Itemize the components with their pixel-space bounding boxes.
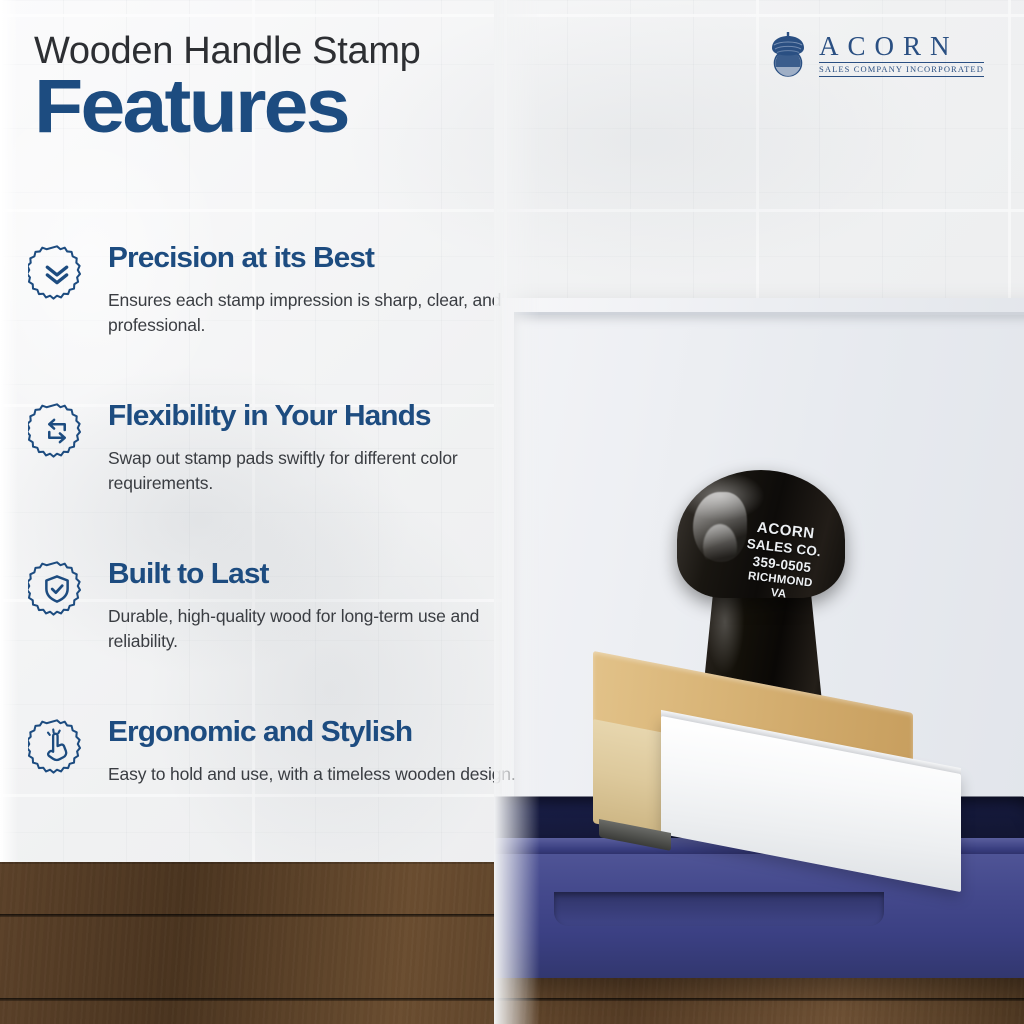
feature-title: Precision at its Best: [108, 244, 374, 273]
feature-title: Flexibility in Your Hands: [108, 402, 431, 431]
logo-divider-top: [819, 62, 984, 64]
swap-arrows-badge-icon: [28, 402, 86, 460]
wooden-handle-stamp: ACORN SALES CO. 359-0505 RICHMOND VA: [549, 470, 979, 910]
page-title-block: Wooden Handle Stamp Features: [34, 30, 421, 144]
feature-title: Built to Last: [108, 560, 269, 589]
tap-hand-badge-icon: [28, 718, 86, 776]
page-title: Features: [34, 70, 444, 144]
logo-name: ACORN: [819, 33, 984, 60]
brand-logo[interactable]: ACORN SALES COMPANY INCORPORATED: [766, 32, 984, 78]
logo-tagline: SALES COMPANY INCORPORATED: [819, 65, 984, 74]
acorn-icon: [766, 32, 810, 78]
shield-check-badge-icon: [28, 560, 86, 618]
double-chevron-down-badge-icon: [28, 244, 86, 302]
feature-description: Swap out stamp pads swiftly for differen…: [108, 446, 538, 497]
feature-description: Ensures each stamp impression is sharp, …: [108, 288, 538, 339]
photo-left-fade: [494, 0, 540, 1024]
feature-title: Ergonomic and Stylish: [108, 718, 412, 747]
feature-description: Durable, high-quality wood for long-term…: [108, 604, 538, 655]
product-photo: ACORN SALES CO. 359-0505 RICHMOND VA: [494, 0, 1024, 1024]
logo-wordmark: ACORN SALES COMPANY INCORPORATED: [819, 33, 984, 78]
logo-divider-bottom: [819, 76, 984, 77]
handle-highlight-secondary: [703, 524, 737, 570]
feature-description: Easy to hold and use, with a timeless wo…: [108, 762, 516, 787]
infographic-canvas: ACORN SALES CO. 359-0505 RICHMOND VA Woo…: [0, 0, 1024, 1024]
handle-imprint-text: ACORN SALES CO. 359-0505 RICHMOND VA: [741, 518, 824, 605]
